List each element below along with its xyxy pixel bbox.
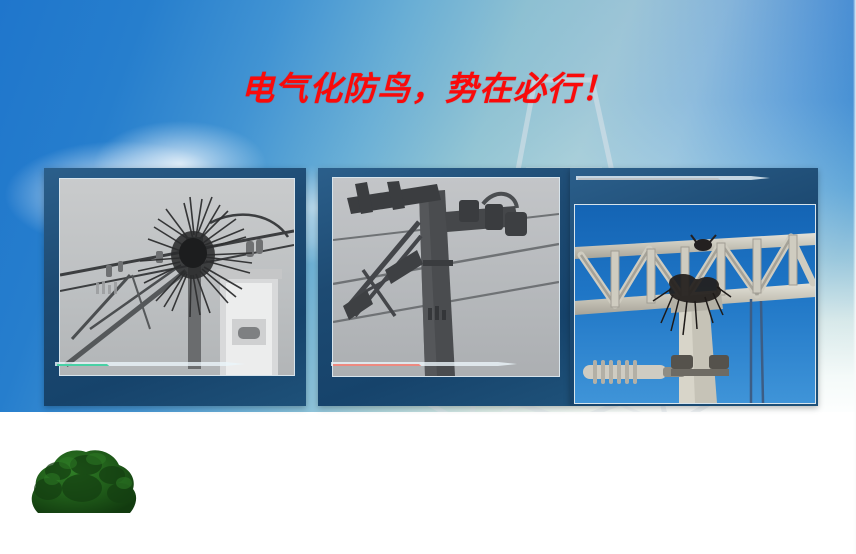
photo-panel-rigid-beam-hanger[interactable] [570,168,818,406]
photo-isolating-switch-on-pole [333,178,559,376]
photo-panel-isolating-switch[interactable] [318,168,570,406]
banner-wrap-rigid-beam-hanger: 硬横梁处吊柱上方 [576,176,770,180]
slide-canvas: 电气化防鸟，势在必行！ [0,0,856,554]
grass-hill-clip [0,490,856,554]
photo-frame [332,177,560,377]
photo-truss-gantry-hanger-column [575,205,815,403]
photo-panel-jumper-wire[interactable] [44,168,306,406]
banner-wrap-isolating-switch: 隔离开关处 [331,362,517,366]
photo-bird-nest-on-jumper-wire [60,179,294,375]
photo-frame [574,204,816,404]
page-title: 电气化防鸟，势在必行！ [0,62,856,110]
photo-frame [59,178,295,376]
banner-wrap-jumper-wire: 跳线处 [55,362,245,366]
